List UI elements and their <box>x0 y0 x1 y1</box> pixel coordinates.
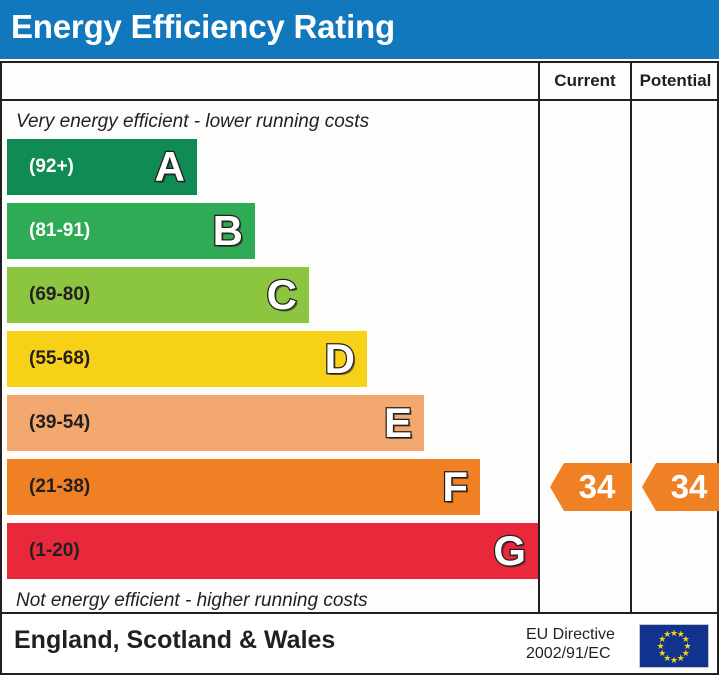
rating-table: Current Potential Very energy efficient … <box>0 61 719 614</box>
title-bar: Energy Efficiency Rating <box>0 0 719 59</box>
band-range-label: (81-91) <box>29 220 90 242</box>
rating-value-current: 34 <box>579 468 616 506</box>
directive-line-1: EU Directive <box>526 625 615 644</box>
eu-flag-star: ★ <box>663 630 671 638</box>
band-letter: F <box>442 466 468 508</box>
rating-band-e: (39-54)E <box>7 395 424 451</box>
band-letter: B <box>213 210 243 252</box>
rating-band-a: (92+)A <box>7 139 197 195</box>
energy-efficiency-rating-certificate: Energy Efficiency Rating Current Potenti… <box>0 0 719 675</box>
rating-bands: (92+)A(81-91)B(69-80)C(55-68)D(39-54)E(2… <box>2 63 538 612</box>
band-range-label: (92+) <box>29 156 74 178</box>
rating-value-potential: 34 <box>671 468 708 506</box>
rating-band-d: (55-68)D <box>7 331 367 387</box>
band-letter: A <box>155 146 185 188</box>
rating-marker-current: 34 <box>550 463 632 511</box>
band-letter: E <box>384 402 412 444</box>
directive-line-2: 2002/91/EC <box>526 644 615 663</box>
eu-flag-icon: ★★★★★★★★★★★★ <box>639 624 709 668</box>
rating-band-g: (1-20)G <box>7 523 538 579</box>
column-header-current: Current <box>540 63 630 99</box>
page-title: Energy Efficiency Rating <box>11 8 395 46</box>
column-header-potential: Potential <box>632 63 719 99</box>
rating-band-f: (21-38)F <box>7 459 480 515</box>
band-letter: C <box>267 274 297 316</box>
rating-band-b: (81-91)B <box>7 203 255 259</box>
band-letter: D <box>325 338 355 380</box>
band-range-label: (21-38) <box>29 476 90 498</box>
band-range-label: (1-20) <box>29 540 80 562</box>
footer-bar: England, Scotland & Wales EU Directive 2… <box>0 614 719 675</box>
band-range-label: (39-54) <box>29 412 90 434</box>
band-letter: G <box>493 530 526 572</box>
rating-band-c: (69-80)C <box>7 267 309 323</box>
rating-marker-potential: 34 <box>642 463 719 511</box>
footer-region-label: England, Scotland & Wales <box>14 626 335 655</box>
column-divider-left <box>538 63 540 612</box>
band-range-label: (55-68) <box>29 348 90 370</box>
band-range-label: (69-80) <box>29 284 90 306</box>
footer-directive: EU Directive 2002/91/EC <box>526 625 615 663</box>
column-divider-right <box>630 63 632 612</box>
